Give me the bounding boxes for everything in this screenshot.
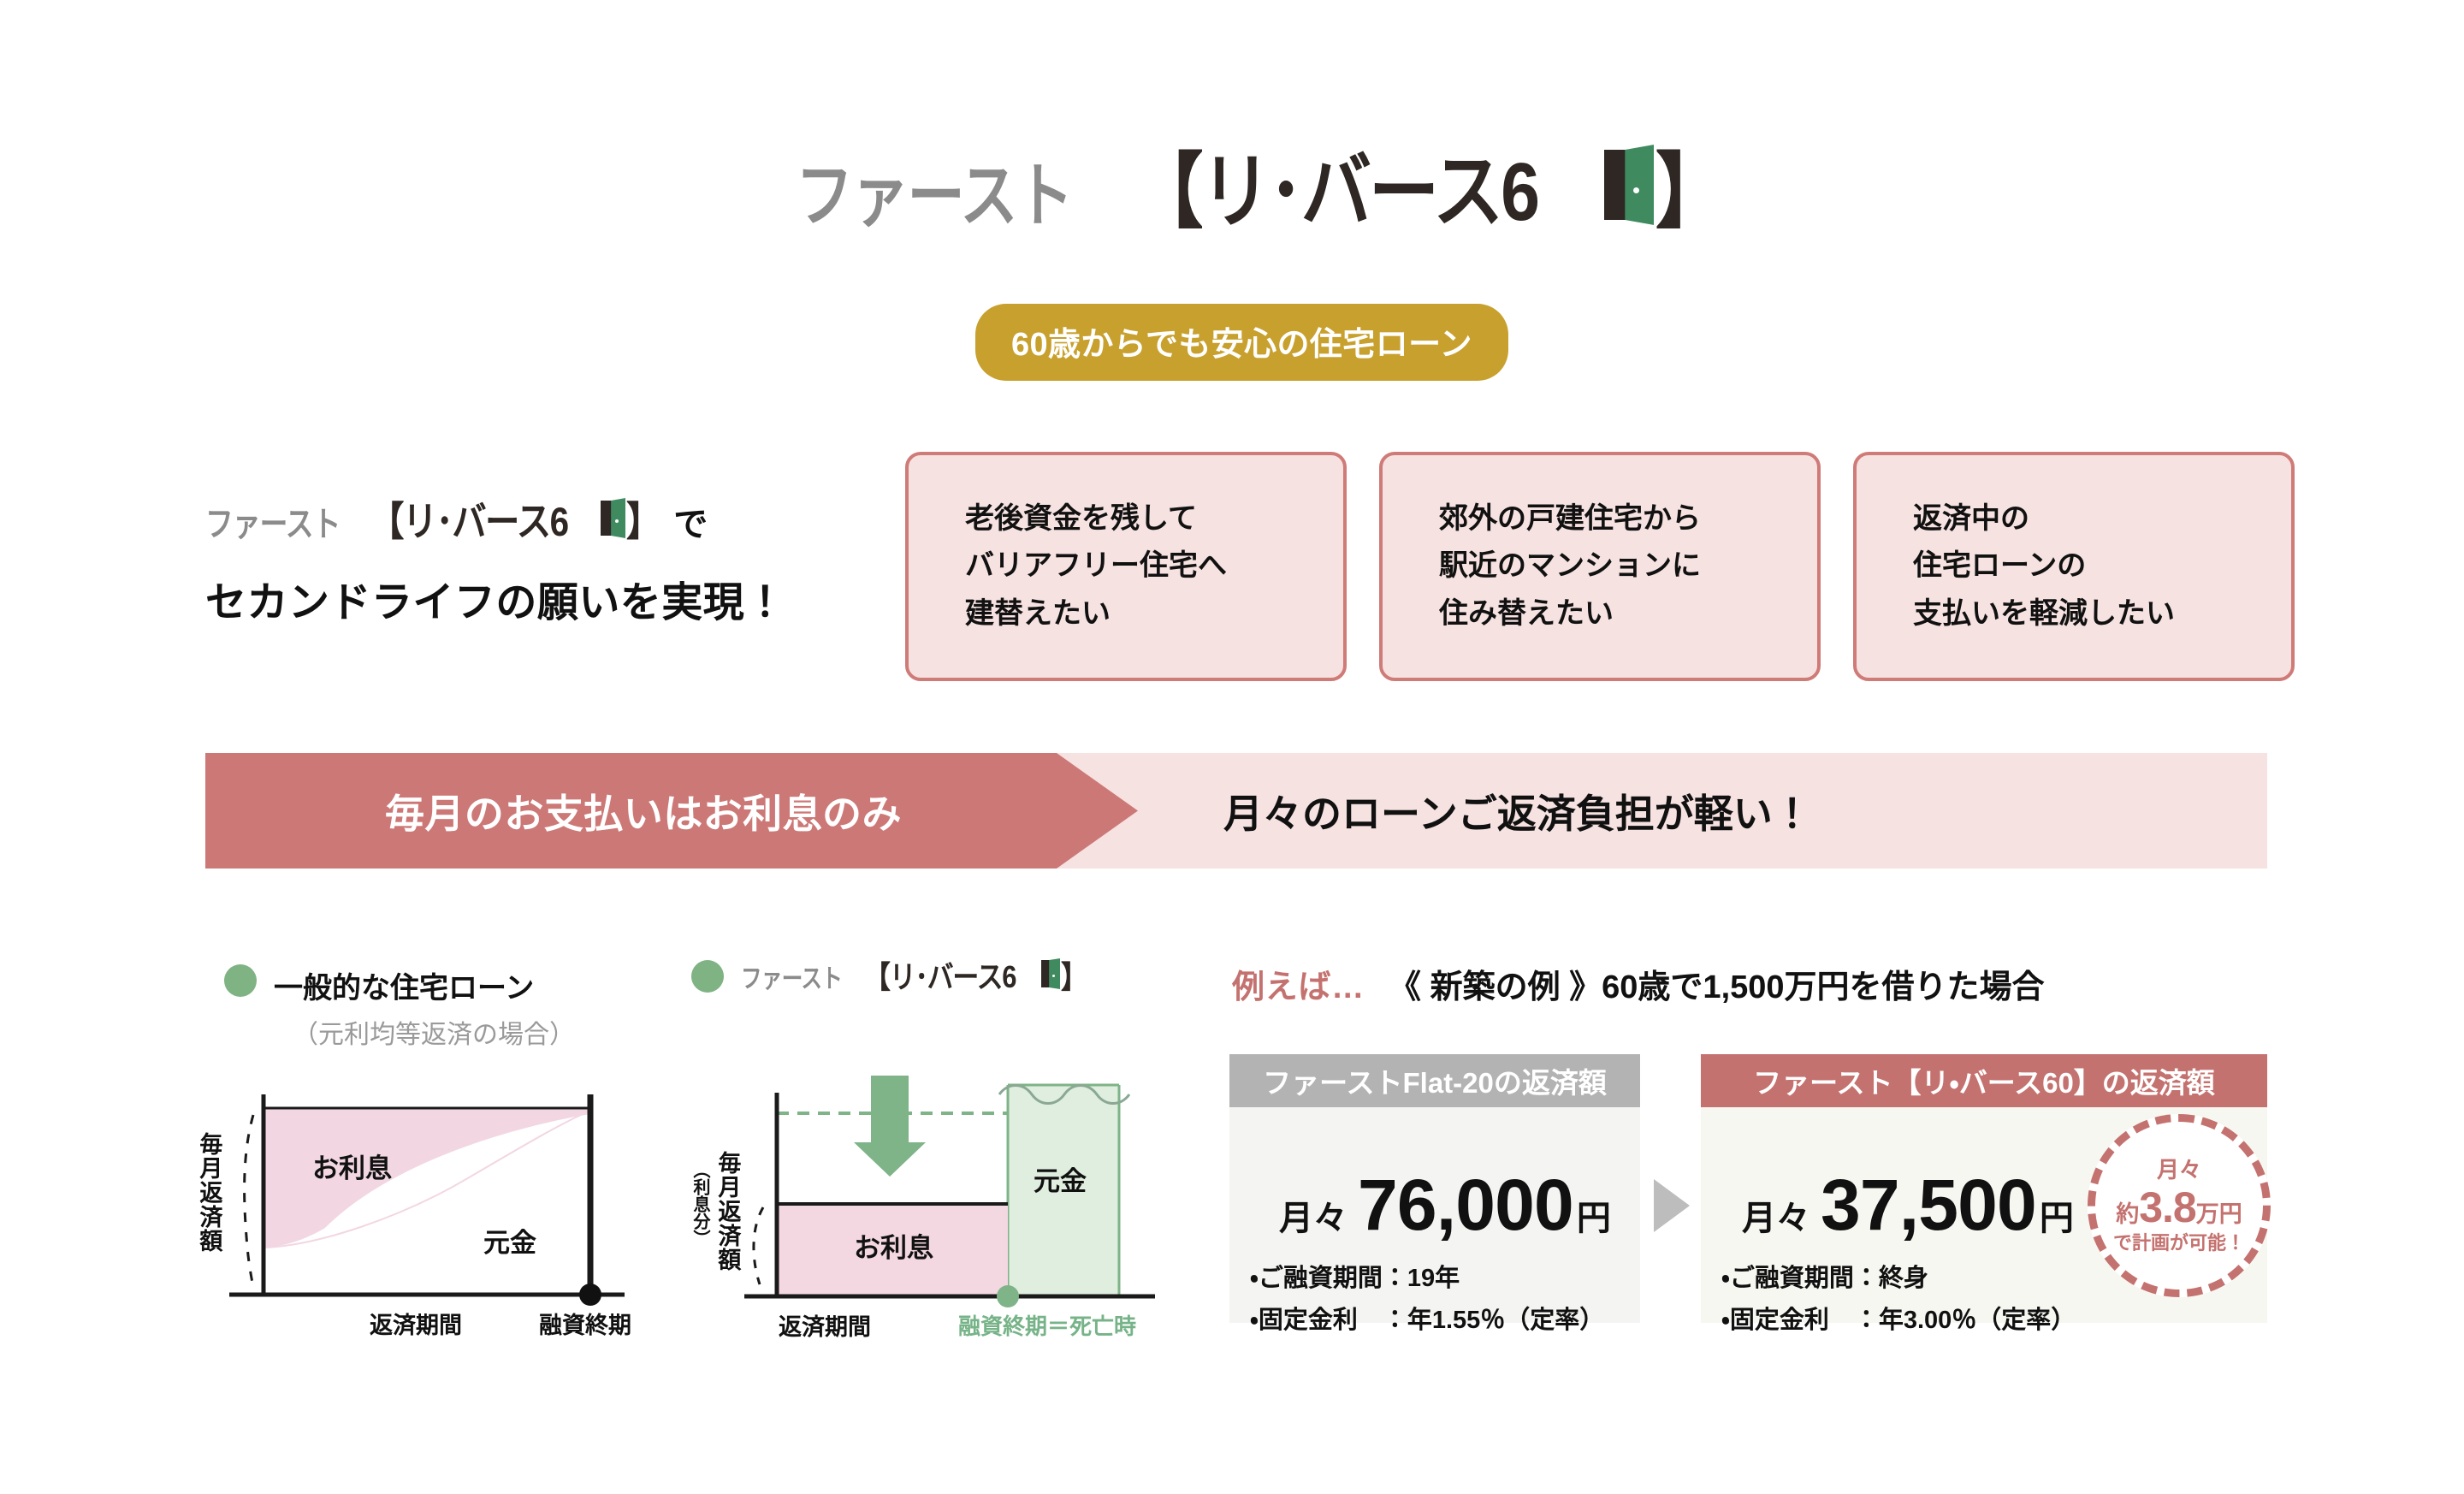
legend-dot-icon [691,960,724,993]
benefit-banner-right-text: 月々のローンご返済負担が軽い！ [1223,783,1812,839]
chart1-y-axis-label: 毎月返済額 [197,1132,221,1254]
brand-logo-name-text: 【リ･バース6 [1133,151,1537,234]
green-door-icon [1602,150,1655,220]
comparison-amount: 月々 37,500 円 [1742,1164,2074,1247]
chart1-interest-label: お利息 [312,1147,392,1185]
brand-logo-first-text: ファースト [796,162,1072,232]
badge-approx: 約 [2116,1203,2139,1226]
badge-value: 3.8 [2139,1186,2196,1229]
need-card-text: 老後資金を残して バリアフリー住宅へ 建替えたい [965,495,1227,637]
brand-logo-bracket-close: 】 [1061,962,1087,993]
need-card: 郊外の戸建住宅から 駅近のマンションに 住み替えたい [1379,452,1821,681]
chart-legend-standard-loan: 一般的な住宅ローン （元利均等返済の場合） [224,964,575,1051]
need-card: 老後資金を残して バリアフリー住宅へ 建替えたい [905,452,1347,681]
headline-line-1: ファースト 【リ･バース6 】 で [205,496,821,546]
comparison-bullets: ・ご融資期間：19年 ・固定金利 ：年1.55％（定率） [1250,1258,1604,1341]
chart2-x-axis-label: 返済期間 [779,1308,871,1342]
brand-logo-bracket-close: 】 [1655,151,1723,234]
brand-logo-legend: ファースト 【リ･バース6 】 [741,960,1091,993]
savings-badge: 月々 約 3.8 万円 で計画が可能！ [2088,1114,2271,1297]
chart1-x-axis-label: 返済期間 [370,1307,462,1340]
amount-prefix: 月々 [1742,1190,1810,1240]
chart1-x-end-label: 融資終期 [539,1307,631,1340]
amount-value: 76,000 [1358,1164,1573,1247]
brand-logo-first-text: ファースト [205,507,340,542]
comparison-card-header: ファースト【リ・バース60】の返済額 [1701,1054,2267,1107]
chart-standard-loan: 毎月返済額 お利息 元金 返済期間 融資終期 [180,1065,659,1339]
chart-standard-loan-svg [180,1065,659,1339]
comparison-card-flat20: ファーストFlat-20の返済額 月々 76,000 円 ・ご融資期間：19年 … [1229,1054,1640,1323]
brand-logo-header: ファースト 【リ･バース6 】 [796,150,1735,234]
chart2-y-axis-sub-label: （利息分） [691,1161,708,1247]
chart2-interest-label: お利息 [854,1226,933,1265]
amount-unit: 円 [2040,1190,2074,1240]
brand-logo-name-text: 【リ･バース6 [370,501,567,542]
badge-amount: 約 3.8 万円 [2116,1186,2242,1229]
chart-legend-reverse60: ファースト 【リ･バース6 】 [691,960,1091,993]
comparison-bullets: ・ご融資期間：終身 ・固定金利 ：年3.00％（定率） [1721,1258,2076,1341]
chart2-end-dot [997,1285,1019,1307]
chart2-principal-label: 元金 [1034,1159,1087,1198]
benefit-banner-left-text: 毎月のお支払いはお利息のみ [385,783,902,839]
brand-logo-bracket-close: 】 [626,501,660,542]
chart-reverse60-svg [710,1057,1189,1339]
comparison-card-body: 月々 76,000 円 ・ご融資期間：19年 ・固定金利 ：年1.55％（定率） [1229,1107,1640,1323]
example-header: 例えば… 《 新築の例 》60歳で1,500万円を借りた場合 [1232,960,2045,1007]
example-condition: 《 新築の例 》60歳で1,500万円を借りた場合 [1389,960,2044,1007]
amount-unit: 円 [1577,1190,1611,1240]
tagline-pill: 60歳からでも安心の住宅ローン [975,304,1508,381]
chart1-principal-label: 元金 [483,1221,536,1260]
legend-label-main: 一般的な住宅ローン [274,972,534,1005]
green-door-icon [1040,960,1061,987]
badge-line-3: で計画が可能！ [2113,1234,2245,1253]
chart2-y-axis-label: 毎月返済額 [715,1151,739,1272]
comparison-arrow-icon [1654,1179,1690,1232]
comparison-card-header: ファーストFlat-20の返済額 [1229,1054,1640,1107]
chart-reverse60: 毎月返済額 （利息分） お利息 元金 返済期間 融資終期＝死亡時 [710,1057,1189,1339]
chart1-end-dot [579,1284,601,1306]
need-card-text: 返済中の 住宅ローンの 支払いを軽減したい [1913,495,2175,637]
green-door-icon [600,501,626,536]
amount-value: 37,500 [1821,1164,2036,1247]
need-card: 返済中の 住宅ローンの 支払いを軽減したい [1853,452,2295,681]
comparison-amount: 月々 76,000 円 [1279,1164,1611,1247]
headline-line-2: セカンドライフの願いを実現！ [205,568,821,628]
headline-suffix: で [673,496,708,546]
chart2-x-end-label: 融資終期＝死亡時 [958,1309,1136,1341]
legend-label-sub: （元利均等返済の場合） [293,1013,575,1051]
need-card-text: 郊外の戸建住宅から 駅近のマンションに 住み替えたい [1439,495,1701,637]
brand-logo-inline: ファースト 【リ･バース6 】 [205,501,665,542]
benefit-banner-left-arrow: 毎月のお支払いはお利息のみ [205,753,1138,869]
amount-prefix: 月々 [1279,1190,1347,1240]
example-label: 例えば… [1232,960,1365,1007]
benefit-banner: 月々のローンご返済負担が軽い！ 毎月のお支払いはお利息のみ [205,753,2267,869]
badge-line-1: 月々 [2157,1159,2201,1181]
chart2-down-arrow-icon [854,1076,926,1177]
legend-dot-icon [224,964,257,997]
brand-logo-name-text: 【リ･バース6 [864,962,1016,993]
badge-unit: 万円 [2196,1203,2242,1226]
brand-logo-first-text: ファースト [741,967,842,993]
headline-block: ファースト 【リ･バース6 】 で セカンドライフの願いを実現！ [205,496,821,628]
